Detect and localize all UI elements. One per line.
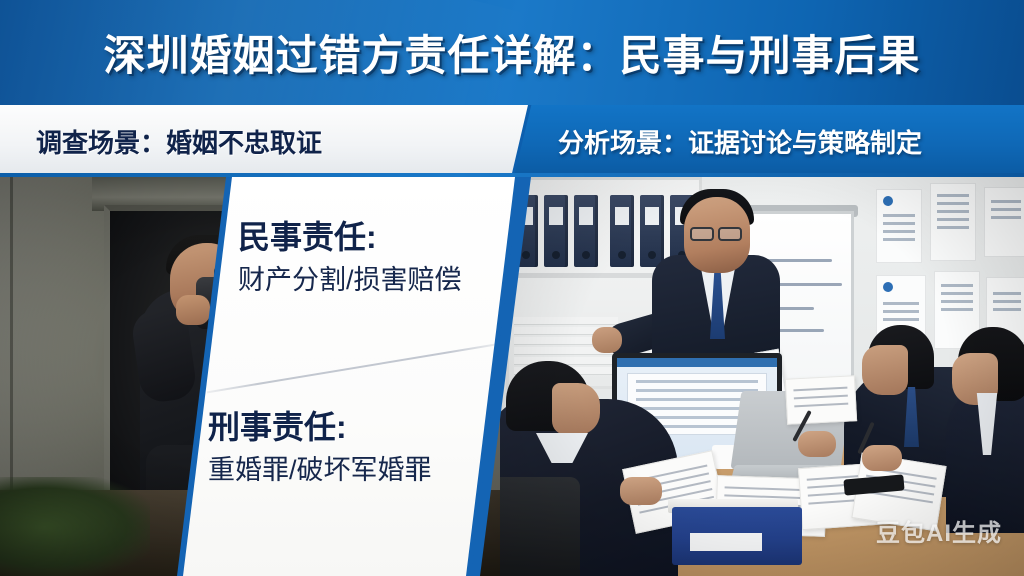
criminal-liability-title: 刑事责任:	[208, 409, 432, 447]
civil-liability-title: 民事责任:	[238, 219, 462, 257]
header-bar: 深圳婚姻过错方责任详解：民事与刑事后果	[0, 0, 1024, 105]
subtitle-band: 调查场景：婚姻不忠取证 分析场景：证据讨论与策略制定	[0, 105, 1024, 177]
page-title: 深圳婚姻过错方责任详解：民事与刑事后果	[103, 22, 920, 83]
subtitle-right-label: 分析场景：证据讨论与策略制定	[558, 123, 922, 160]
subtitle-right-panel: 分析场景：证据讨论与策略制定	[514, 105, 1024, 177]
poster-root: 深圳婚姻过错方责任详解：民事与刑事后果 调查场景：婚姻不忠取证 分析场景：证据讨…	[0, 0, 1024, 576]
civil-liability-desc: 财产分割/损害赔偿	[238, 263, 462, 298]
main-stage: 民事责任: 财产分割/损害赔偿 刑事责任: 重婚罪/破坏军婚罪 豆包AI生成	[0, 177, 1024, 576]
card-divider-line	[207, 343, 501, 394]
ai-watermark: 豆包AI生成	[876, 513, 1002, 548]
criminal-liability-desc: 重婚罪/破坏军婚罪	[208, 453, 432, 488]
criminal-liability-block: 刑事责任: 重婚罪/破坏军婚罪	[208, 409, 432, 488]
subtitle-left-label: 调查场景：婚姻不忠取证	[36, 123, 322, 160]
subtitle-left-panel: 调查场景：婚姻不忠取证	[0, 105, 528, 177]
civil-liability-block: 民事责任: 财产分割/损害赔偿	[238, 219, 462, 298]
